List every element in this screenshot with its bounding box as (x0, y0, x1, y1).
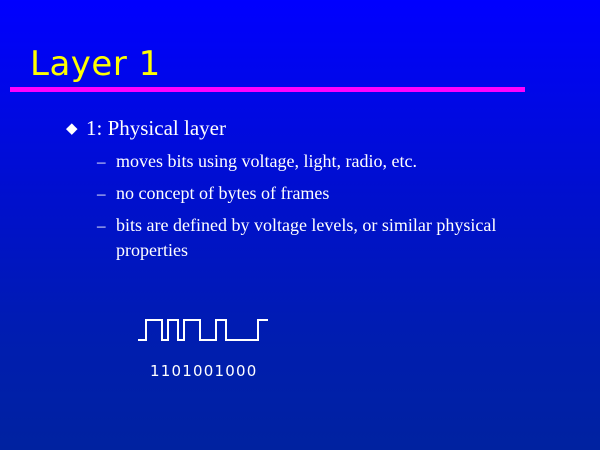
title-underline-rule (10, 87, 525, 92)
sub-bullet-list: – moves bits using voltage, light, radio… (0, 149, 600, 263)
sub-bullet-item-moves-bits: – moves bits using voltage, light, radio… (97, 149, 528, 174)
sub-bullet-item-label: no concept of bytes of frames (116, 183, 329, 203)
sub-bullet-item-label: bits are defined by voltage levels, or s… (116, 215, 496, 260)
dash-bullet-icon: – (97, 181, 106, 206)
title-block: Layer 1 (0, 44, 600, 94)
waveform-bit-caption: 1101001000 (150, 362, 257, 380)
square-wave-icon (138, 316, 268, 346)
bullet-item-physical-layer: ◆1: Physical layer (66, 114, 600, 143)
body-content: ◆1: Physical layer – moves bits using vo… (0, 114, 600, 270)
dash-bullet-icon: – (97, 149, 106, 174)
sub-bullet-item-bits-defined: – bits are defined by voltage levels, or… (97, 213, 528, 263)
page-title: Layer 1 (30, 44, 161, 84)
slide: Layer 1 ◆1: Physical layer – moves bits … (0, 0, 600, 450)
diamond-bullet-icon: ◆ (66, 115, 86, 143)
dash-bullet-icon: – (97, 213, 106, 238)
sub-bullet-item-label: moves bits using voltage, light, radio, … (116, 151, 417, 171)
bullet-item-label: 1: Physical layer (86, 116, 226, 140)
sub-bullet-item-no-concept: – no concept of bytes of frames (97, 181, 528, 206)
